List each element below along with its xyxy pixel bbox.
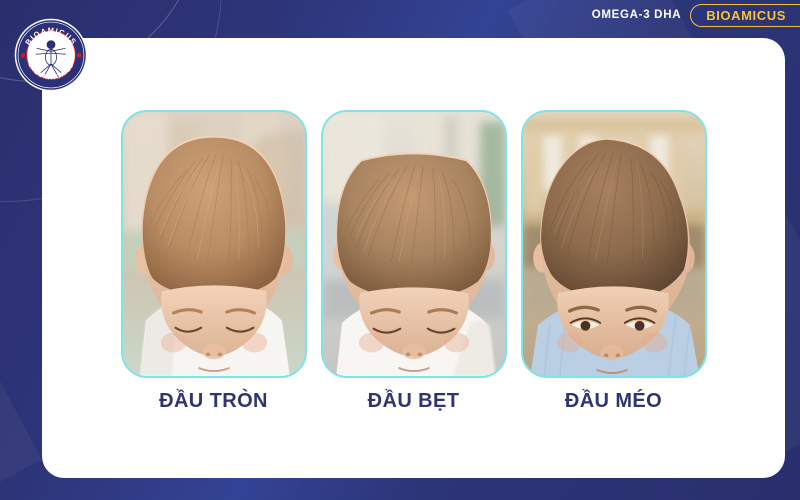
photo-label-row: ĐẦU TRÒN ĐẦU BẸT ĐẦU MÉO [42,390,785,413]
photo-label-flat-head: ĐẦU BẸT [321,390,507,413]
header-brand-pill[interactable]: BIOAMICUS [690,4,800,27]
header-strip: OMEGA-3 DHA BIOAMICUS [592,0,800,30]
bioamicus-logo[interactable]: BIOAMICUS LABORATORIES [14,18,88,92]
baby-flat-head-image [323,112,505,376]
header-tagline: OMEGA-3 DHA [592,9,681,21]
slide-root: BIOAMICUS [0,0,800,500]
photo-card-round-head[interactable] [121,110,307,378]
baby-misshapen-head-image [523,112,705,376]
content-card: ĐẦU TRÒN ĐẦU BẸT ĐẦU MÉO [42,38,785,478]
photo-gallery [42,110,785,378]
photo-card-misshapen-head[interactable] [521,110,707,378]
photo-label-misshapen-head: ĐẦU MÉO [521,390,707,413]
photo-label-round-head: ĐẦU TRÒN [121,390,307,413]
bioamicus-logo-mark: BIOAMICUS LABORATORIES [14,18,88,92]
baby-round-head-image [123,112,305,376]
photo-card-flat-head[interactable] [321,110,507,378]
